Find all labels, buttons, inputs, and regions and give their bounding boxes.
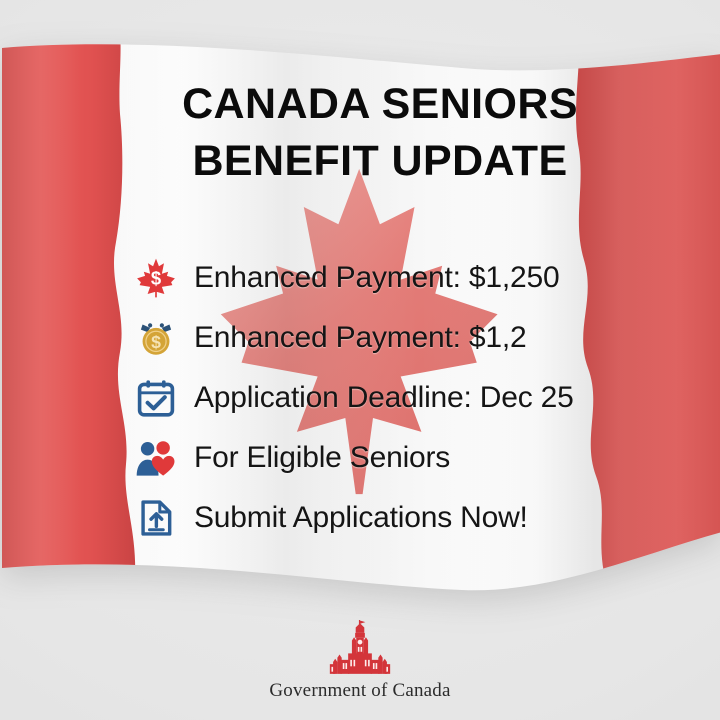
list-item: $ Enhanced Payment: $1,250 xyxy=(134,248,604,308)
money-bag-coin-icon: $ xyxy=(134,316,178,360)
list-item-label: Submit Applications Now! xyxy=(194,501,528,535)
list-item-label: Application Deadline: Dec 25 xyxy=(194,381,574,415)
parliament-building-icon xyxy=(322,620,398,676)
poster-canvas: CANADA SENIORS BENEFIT UPDATE $ Enhanced… xyxy=(0,0,720,720)
people-heart-icon-wrapper: For Eligible Seniors xyxy=(134,428,604,488)
document-upload-icon xyxy=(134,496,178,540)
title-line-1: CANADA SENIORS xyxy=(40,76,720,133)
bullet-list: $ Enhanced Payment: $1,250 $ Enhanced Pa… xyxy=(134,248,604,548)
svg-text:$: $ xyxy=(151,332,161,352)
list-item: $ Enhanced Payment: $1,2 xyxy=(134,308,604,368)
government-of-canada-wordmark: Government of Canada xyxy=(0,620,720,702)
people-heart-icon xyxy=(134,436,178,480)
list-item: Submit Applications Now! xyxy=(134,488,604,548)
list-item-label: For Eligible Seniors xyxy=(194,441,450,475)
list-item-label: Enhanced Payment: $1,2 xyxy=(194,321,527,355)
page-title: CANADA SENIORS BENEFIT UPDATE xyxy=(0,76,720,190)
svg-text:$: $ xyxy=(151,268,162,289)
list-item-label: Enhanced Payment: $1,250 xyxy=(194,261,559,295)
title-line-2: BENEFIT UPDATE xyxy=(40,133,720,190)
maple-leaf-dollar-icon: $ xyxy=(134,256,178,300)
list-item: Application Deadline: Dec 25 xyxy=(134,368,604,428)
calendar-check-icon xyxy=(134,376,178,420)
wordmark-text: Government of Canada xyxy=(269,680,450,701)
